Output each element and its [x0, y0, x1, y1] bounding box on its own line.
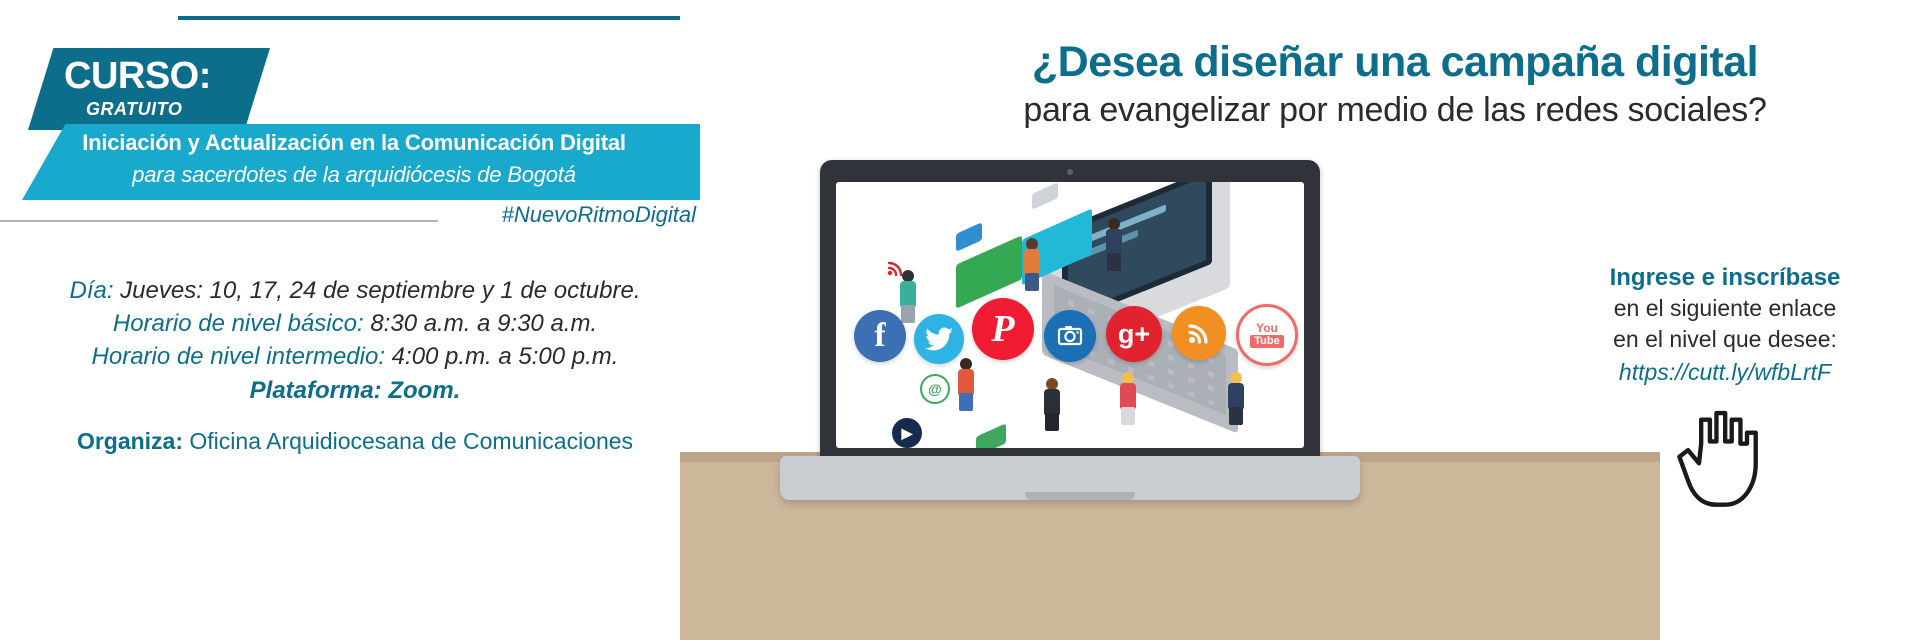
person-body [1044, 389, 1060, 415]
course-title-line1: Iniciación y Actualización en la Comunic… [22, 128, 686, 158]
person-figure [956, 358, 976, 416]
cta-line2: en el nivel que desee: [1540, 324, 1910, 355]
person-figure [1042, 378, 1062, 440]
wifi-waves-glyph [886, 257, 908, 277]
googleplus-icon: g+ [1106, 306, 1162, 362]
person-legs [1229, 407, 1243, 425]
laptop-lid: f P g+ [820, 160, 1320, 460]
day-value: Jueves: 10, 17, 24 de septiembre y 1 de … [120, 277, 640, 304]
laptop-base-lip [1025, 492, 1135, 500]
rss-icon [1172, 306, 1226, 360]
organizer-value: Oficina Arquidiocesana de Comunicaciones [189, 428, 633, 454]
intermediate-schedule-value: 4:00 p.m. a 5:00 p.m. [392, 343, 619, 370]
top-divider-rule [178, 16, 680, 20]
facebook-icon: f [854, 310, 906, 362]
instagram-icon [1044, 310, 1096, 362]
cta-line1: en el siguiente enlace [1540, 293, 1910, 324]
basic-schedule-value: 8:30 a.m. a 9:30 a.m. [370, 310, 597, 337]
youtube-bottom-text: Tube [1250, 335, 1283, 348]
hashtag-divider-rule [0, 220, 438, 222]
person-legs [959, 393, 973, 411]
person-legs [901, 305, 915, 323]
googleplus-glyph: g+ [1118, 319, 1150, 350]
curso-label: CURSO: [64, 54, 211, 98]
twitter-bird-glyph [924, 327, 954, 351]
laptop-screen: f P g+ [836, 182, 1304, 448]
course-title-band: Iniciación y Actualización en la Comunic… [22, 124, 700, 200]
email-at-icon: @ [920, 374, 950, 404]
person-body [958, 369, 974, 395]
rss-waves-glyph [1185, 319, 1213, 347]
schedule-details: Día: Jueves: 10, 17, 24 de septiembre y … [10, 274, 700, 409]
person-figure [1118, 372, 1138, 434]
platform-label: Plataforma: Zoom. [10, 373, 700, 409]
person-body [1228, 383, 1244, 409]
person-legs [1045, 413, 1059, 431]
intermediate-schedule-label: Horario de nivel intermedio: [92, 343, 385, 370]
hashtag-label: #NuevoRitmoDigital [434, 202, 696, 228]
pinterest-icon: P [972, 298, 1034, 360]
headline-line2: para evangelizar por medio de las redes … [880, 88, 1910, 132]
gray-tile-shape [1032, 182, 1058, 210]
green-tile-shape [976, 423, 1006, 448]
detail-line-intermediate: Horario de nivel intermedio: 4:00 p.m. a… [10, 340, 700, 373]
gratuito-label: GRATUITO [86, 98, 182, 120]
hand-pointer-icon [1668, 400, 1778, 520]
basic-schedule-label: Horario de nivel básico: [113, 310, 364, 337]
person-legs [1025, 273, 1039, 291]
person-legs [1107, 253, 1121, 271]
instagram-camera-glyph [1056, 322, 1084, 350]
detail-line-day: Día: Jueves: 10, 17, 24 de septiembre y … [10, 274, 700, 307]
webcam-icon [1067, 169, 1073, 175]
person-body [1120, 383, 1136, 409]
blue-tile-shape [956, 222, 982, 252]
organizer-label: Organiza: [77, 428, 183, 454]
person-figure [1104, 218, 1124, 276]
youtube-icon: You Tube [1236, 304, 1298, 366]
wifi-signal-icon [884, 254, 910, 280]
course-title-line2: para sacerdotes de la arquidiócesis de B… [22, 160, 686, 190]
headline-line1: ¿Desea diseñar una campaña digital [880, 36, 1910, 88]
hashtag-row: #NuevoRitmoDigital [0, 198, 700, 232]
cta-url-link[interactable]: https://cutt.ly/wfbLrtF [1540, 355, 1910, 389]
curso-badge: CURSO: GRATUITO [28, 48, 270, 130]
pinterest-glyph: P [991, 307, 1014, 351]
person-body [1106, 229, 1122, 255]
organizer-line: Organiza: Oficina Arquidiocesana de Comu… [10, 426, 700, 456]
social-media-artwork: f P g+ [836, 182, 1304, 448]
person-figure [1226, 372, 1246, 434]
twitter-icon [914, 314, 964, 364]
cta-title: Ingrese e inscríbase [1540, 262, 1910, 293]
youtube-top-text: You [1256, 322, 1278, 335]
play-button-icon: ▶ [892, 418, 922, 448]
headline-block: ¿Desea diseñar una campaña digital para … [880, 36, 1910, 132]
person-figure [1022, 238, 1042, 294]
promo-banner: CURSO: GRATUITO Iniciación y Actualizaci… [0, 0, 1920, 640]
person-body [1024, 249, 1040, 275]
detail-line-basic: Horario de nivel básico: 8:30 a.m. a 9:3… [10, 307, 700, 340]
person-legs [1121, 407, 1135, 425]
facebook-glyph: f [874, 317, 885, 355]
person-body [900, 281, 916, 307]
laptop-illustration: f P g+ [790, 160, 1530, 640]
day-label: Día: [69, 277, 113, 304]
cta-block: Ingrese e inscríbase en el siguiente enl… [1540, 262, 1910, 389]
